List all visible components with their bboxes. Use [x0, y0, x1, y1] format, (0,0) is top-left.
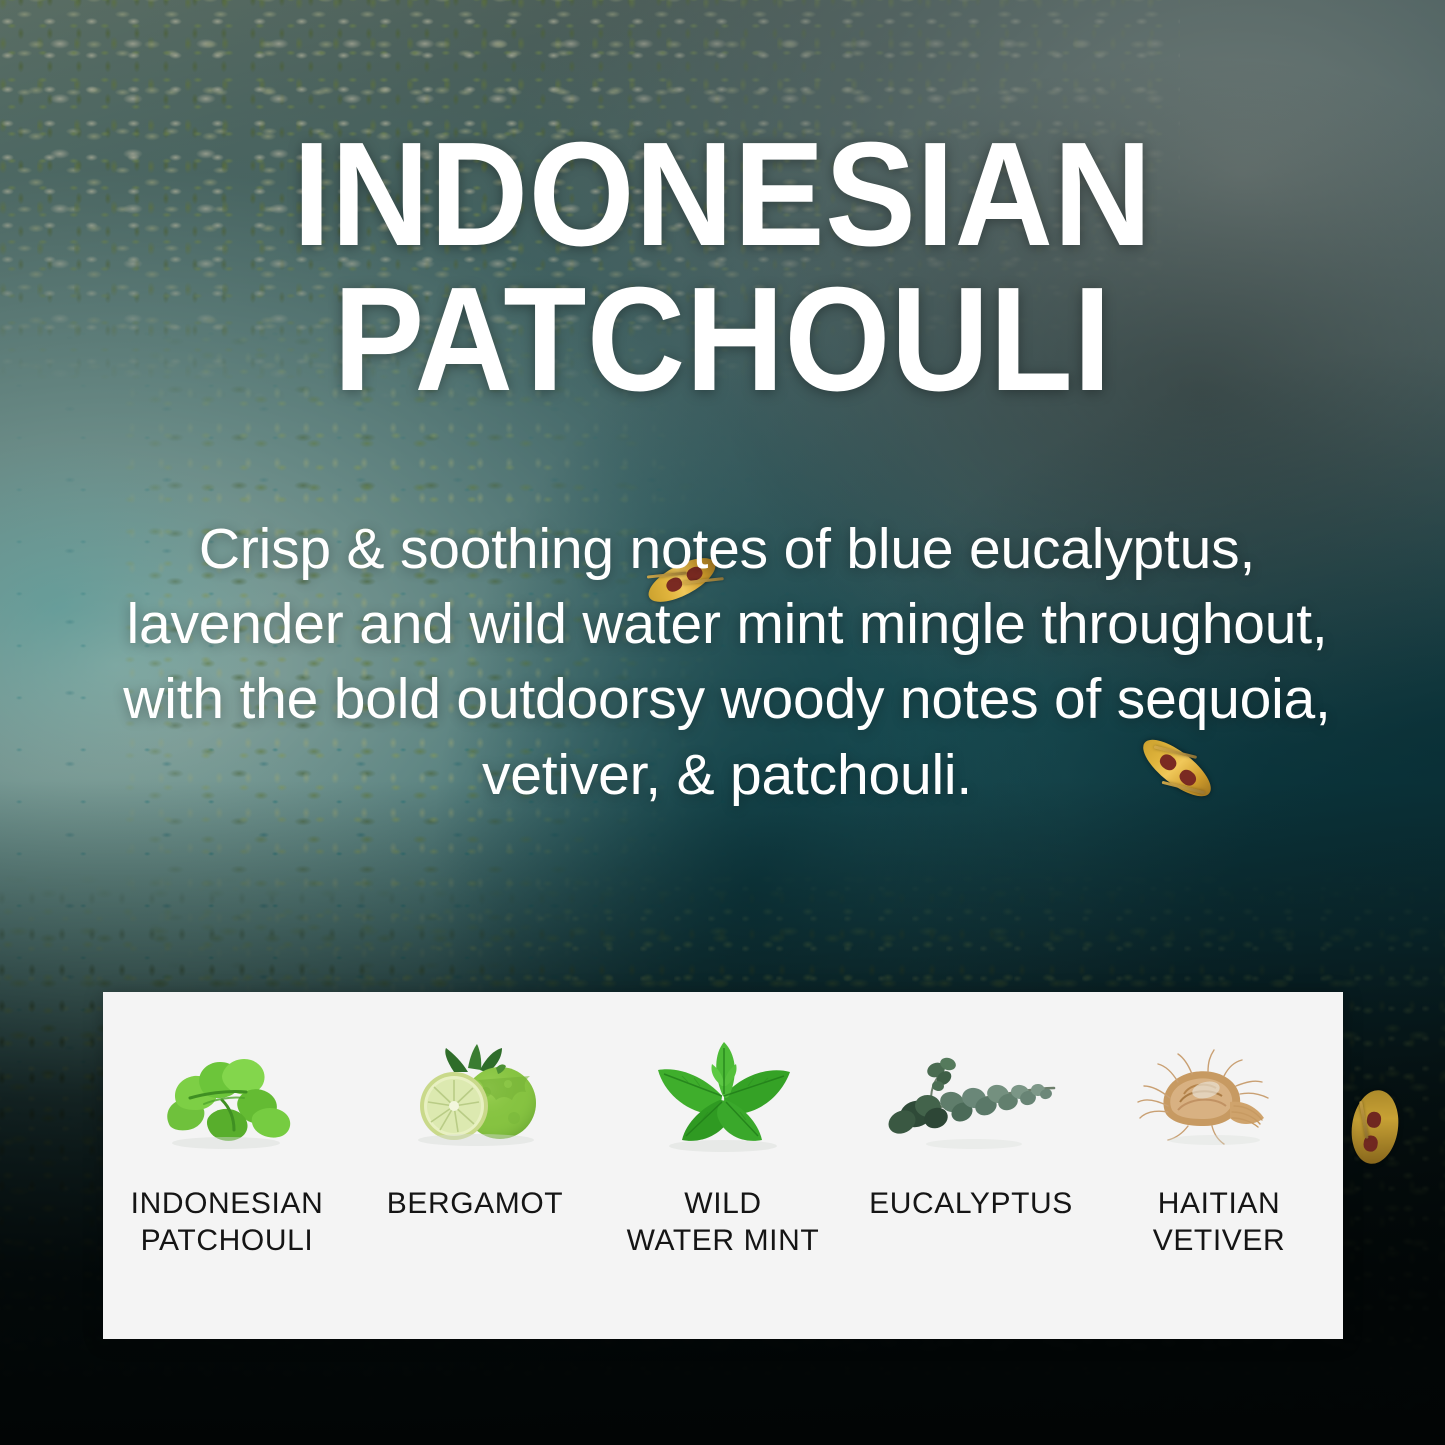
product-scent-banner: INDONESIAN PATCHOULI Crisp & soothing no…: [0, 0, 1445, 1445]
title-line-2: PATCHOULI: [58, 267, 1387, 412]
page-title: INDONESIAN PATCHOULI: [0, 122, 1445, 412]
ingredient-item-bergamot: BERGAMOT: [351, 992, 599, 1339]
ingredient-label: HAITIAN VETIVER: [1153, 1186, 1286, 1259]
ingredient-item-wild-water-mint: WILD WATER MINT: [599, 992, 847, 1339]
bergamot-fruit-icon: [382, 1040, 568, 1158]
ingredient-label: EUCALYPTUS: [869, 1186, 1073, 1223]
ingredient-label: INDONESIAN PATCHOULI: [131, 1186, 324, 1259]
mint-leaves-icon: [630, 1040, 816, 1158]
ingredient-item-eucalyptus: EUCALYPTUS: [847, 992, 1095, 1339]
ingredient-card: INDONESIAN PATCHOULI: [103, 992, 1343, 1339]
scent-description: Crisp & soothing notes of blue eucalyptu…: [92, 512, 1362, 813]
eucalyptus-branch-icon: [878, 1040, 1064, 1158]
patchouli-leaves-icon: [134, 1040, 320, 1158]
ingredient-label: BERGAMOT: [387, 1186, 563, 1223]
ingredient-item-haitian-vetiver: HAITIAN VETIVER: [1095, 992, 1343, 1339]
vetiver-roots-icon: [1126, 1040, 1312, 1158]
title-line-1: INDONESIAN: [58, 122, 1387, 267]
ingredient-label: WILD WATER MINT: [627, 1186, 820, 1259]
ingredient-item-indonesian-patchouli: INDONESIAN PATCHOULI: [103, 992, 351, 1339]
